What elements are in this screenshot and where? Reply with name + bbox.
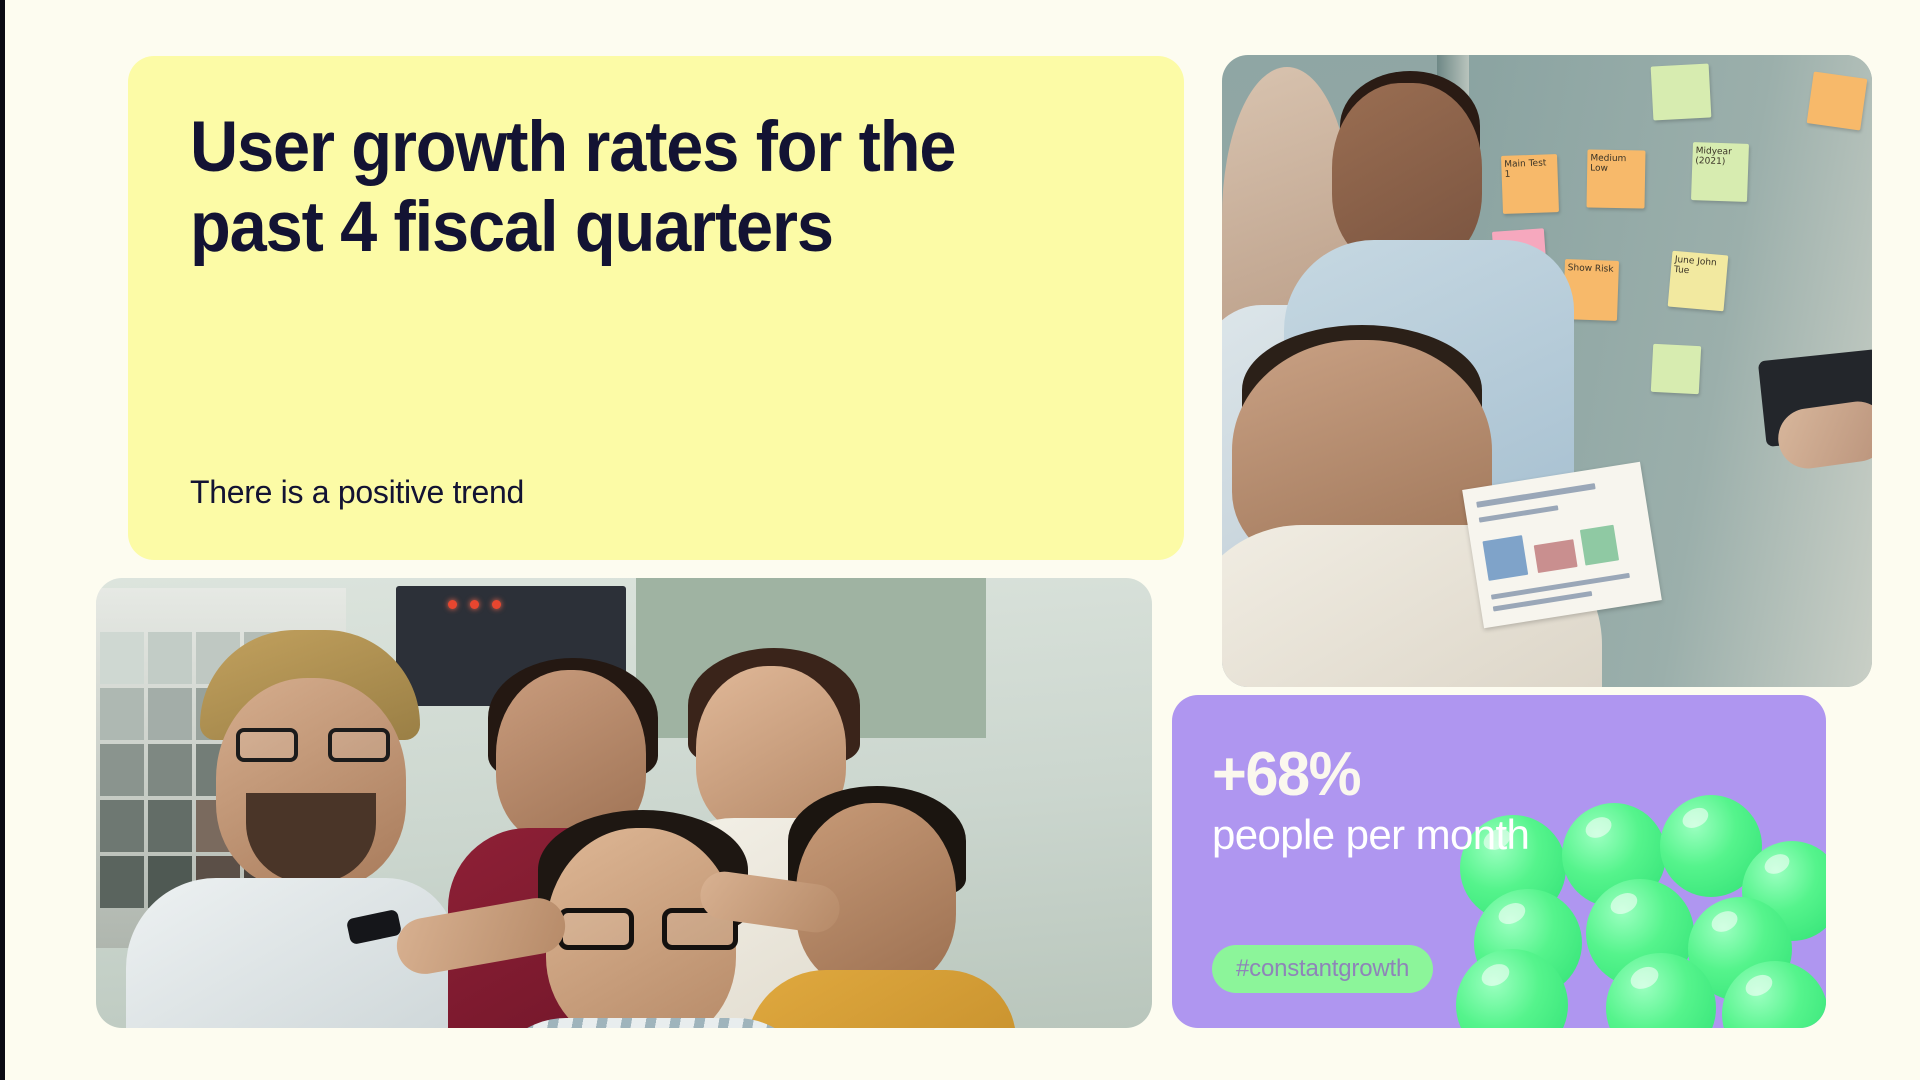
photo-whiteboard-meeting: Main Test 1 Medium Low Midyear (2021) Sh…	[1222, 55, 1872, 687]
sticky-note: Main Test 1	[1501, 154, 1559, 214]
sticky-note: Midyear (2021)	[1691, 142, 1749, 202]
sticky-note: June John Tue	[1668, 251, 1729, 312]
page-title: User growth rates for the past 4 fiscal …	[190, 108, 1092, 267]
sticky-note	[1807, 71, 1868, 130]
eyeglasses	[236, 728, 396, 762]
stat-label: people per month	[1212, 811, 1529, 859]
page-subtitle: There is a positive trend	[190, 474, 524, 511]
title-card: User growth rates for the past 4 fiscal …	[128, 56, 1184, 560]
stat-value: +68%	[1212, 739, 1360, 810]
sticky-note	[1651, 64, 1712, 121]
hashtag-pill[interactable]: #constantgrowth	[1212, 945, 1433, 993]
printed-report	[1462, 462, 1662, 628]
sticky-note	[1651, 344, 1701, 394]
sticky-note: Medium Low	[1586, 149, 1645, 208]
stat-card: +68% people per month #constantgrowth	[1172, 695, 1826, 1028]
photo-team-laptop	[96, 578, 1152, 1028]
slide-canvas: User growth rates for the past 4 fiscal …	[0, 0, 1920, 1080]
left-edge-strip	[0, 0, 5, 1080]
